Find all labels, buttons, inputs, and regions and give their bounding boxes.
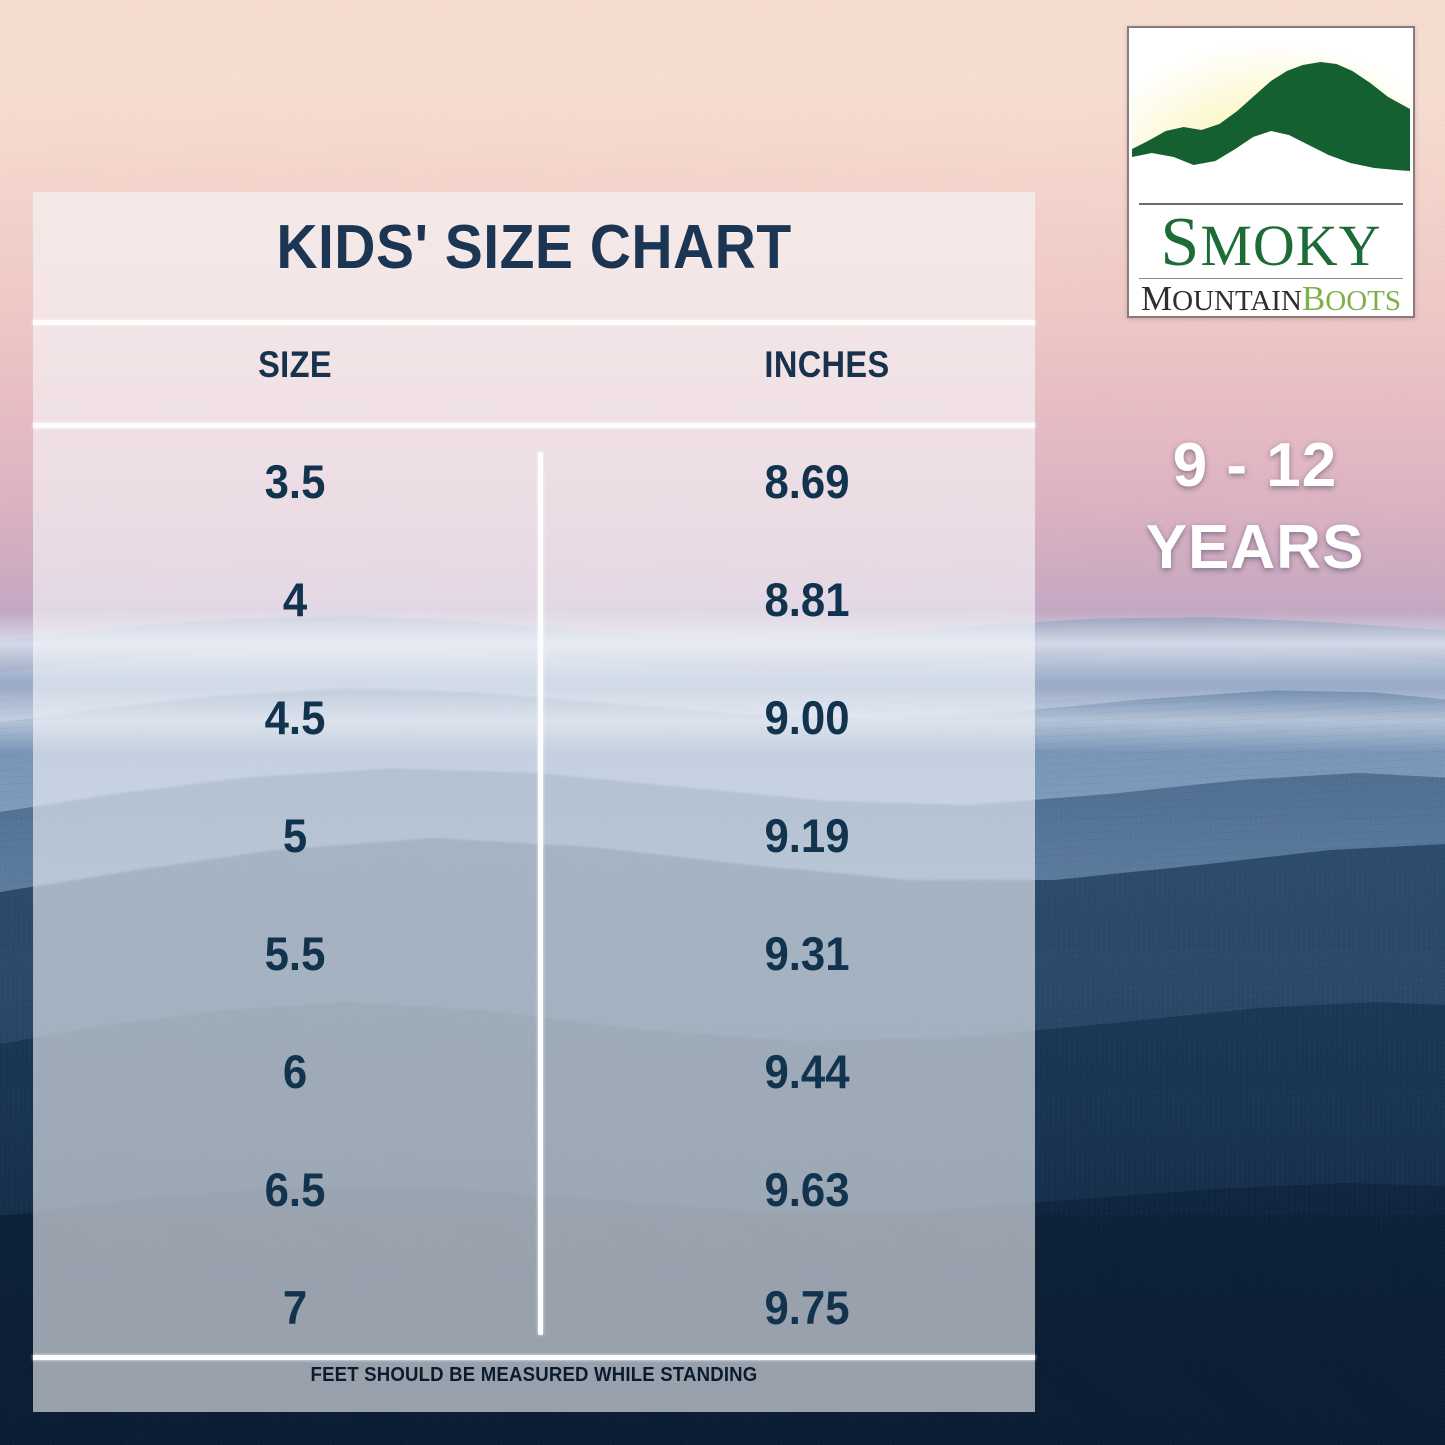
age-range-line2: YEARS <box>1090 507 1420 589</box>
age-range-badge: 9 - 12 YEARS <box>1090 425 1420 589</box>
size-chart-panel: KIDS' SIZE CHART SIZE INCHES 3.5 8.69 4 … <box>33 192 1035 1412</box>
measurement-note: FEET SHOULD BE MEASURED WHILE STANDING <box>68 1364 1000 1387</box>
table-header-row: SIZE INCHES <box>33 344 1035 416</box>
page-title: KIDS' SIZE CHART <box>73 212 995 283</box>
cell-inches: 9.63 <box>672 1131 942 1249</box>
logo-subwordmark: MOUNTAINBOOTS <box>1129 282 1413 318</box>
table-row: 6 9.44 <box>33 1013 1035 1131</box>
table-body: 3.5 8.69 4 8.81 4.5 9.00 5 9.19 5.5 9.31… <box>33 423 1035 1355</box>
column-header-inches: INCHES <box>686 344 968 386</box>
cell-size: 6 <box>193 1013 398 1131</box>
table-row: 3.5 8.69 <box>33 423 1035 541</box>
age-range-line1: 9 - 12 <box>1090 425 1420 507</box>
cell-inches: 8.81 <box>672 541 942 659</box>
column-header-size: SIZE <box>211 344 378 386</box>
cell-size: 5 <box>193 777 398 895</box>
cell-inches: 9.44 <box>672 1013 942 1131</box>
cell-inches: 9.75 <box>672 1249 942 1367</box>
divider-above-footnote <box>33 1355 1035 1360</box>
divider-under-title <box>33 320 1035 325</box>
table-row: 7 9.75 <box>33 1249 1035 1367</box>
brand-logo: SMOKY MOUNTAINBOOTS <box>1127 26 1415 318</box>
cell-size: 6.5 <box>193 1131 398 1249</box>
cell-inches: 9.31 <box>672 895 942 1013</box>
cell-inches: 9.00 <box>672 659 942 777</box>
cell-size: 4 <box>193 541 398 659</box>
cell-size: 7 <box>193 1249 398 1367</box>
cell-inches: 8.69 <box>672 423 942 541</box>
cell-size: 4.5 <box>193 659 398 777</box>
table-row: 5.5 9.31 <box>33 895 1035 1013</box>
cell-size: 3.5 <box>193 423 398 541</box>
cell-size: 5.5 <box>193 895 398 1013</box>
mountain-sunrise-icon <box>1132 31 1410 199</box>
table-row: 6.5 9.63 <box>33 1131 1035 1249</box>
logo-divider-bottom <box>1139 278 1403 279</box>
table-row: 5 9.19 <box>33 777 1035 895</box>
cell-inches: 9.19 <box>672 777 942 895</box>
size-chart-graphic: KIDS' SIZE CHART SIZE INCHES 3.5 8.69 4 … <box>0 0 1445 1445</box>
table-row: 4 8.81 <box>33 541 1035 659</box>
table-row: 4.5 9.00 <box>33 659 1035 777</box>
logo-wordmark: SMOKY <box>1129 210 1413 279</box>
